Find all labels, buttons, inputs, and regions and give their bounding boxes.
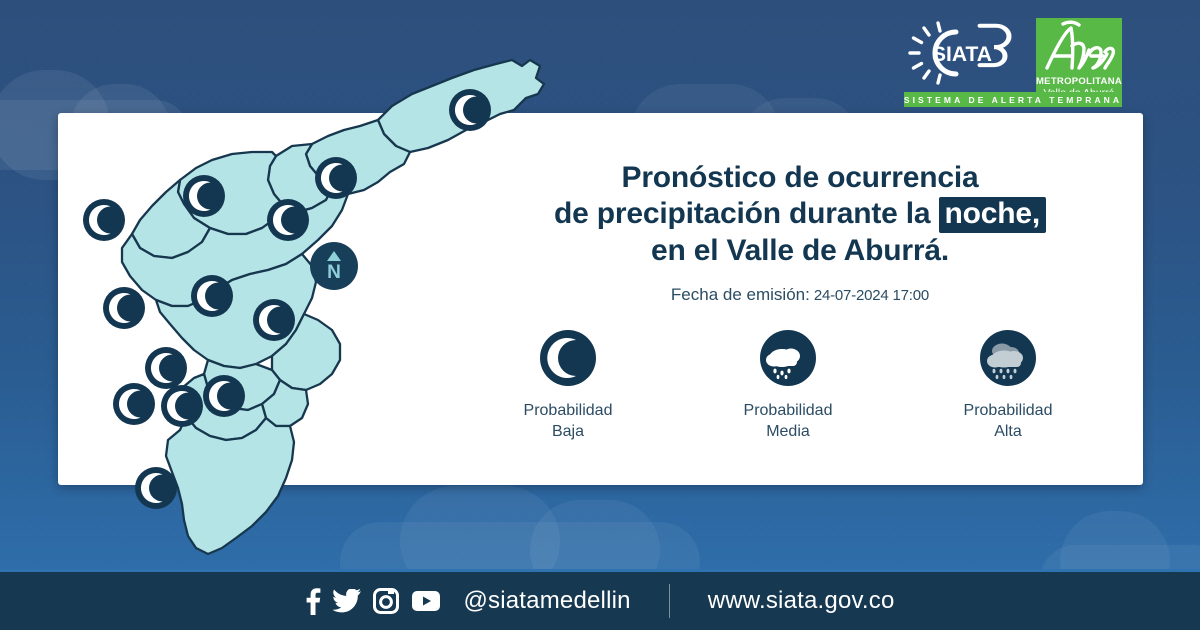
- emission-date-label: Fecha de emisión:: [671, 285, 810, 304]
- map-marker[interactable]: [135, 467, 177, 509]
- map-marker[interactable]: [83, 199, 125, 241]
- map-marker[interactable]: [113, 383, 155, 425]
- area-script-icon: [1039, 20, 1119, 76]
- legend-label-alta-line1: Probabilidad: [918, 400, 1098, 421]
- facebook-icon[interactable]: [305, 587, 321, 615]
- map-marker[interactable]: [203, 375, 245, 417]
- title-line-1: Pronóstico de ocurrencia: [470, 160, 1130, 196]
- map-marker[interactable]: [103, 287, 145, 329]
- youtube-icon[interactable]: [411, 590, 441, 612]
- tagline-text: SISTEMA DE ALERTA TEMPRANA: [904, 95, 1122, 105]
- social-icons: [305, 587, 441, 615]
- title-line-2-text: de precipitación durante la: [554, 197, 939, 230]
- legend-label-baja-line1: Probabilidad: [478, 400, 658, 421]
- probability-legend: Probabilidad Baja: [478, 330, 1098, 442]
- siata-logo: SIATA: [904, 18, 1022, 88]
- legend-item-alta[interactable]: Probabilidad Alta: [918, 330, 1098, 442]
- map-regions: [122, 60, 544, 554]
- map-marker[interactable]: [183, 175, 225, 217]
- map-marker[interactable]: [191, 275, 233, 317]
- tagline-bar: SISTEMA DE ALERTA TEMPRANA: [904, 92, 1122, 107]
- compass-north-icon: N: [310, 242, 358, 290]
- map-marker[interactable]: [253, 299, 295, 341]
- footer-divider: [669, 584, 670, 618]
- map-marker[interactable]: [267, 199, 309, 241]
- legend-label-alta-line2: Alta: [918, 421, 1098, 442]
- title-line-2: de precipitación durante la noche,: [470, 196, 1130, 233]
- cloud-moon-rain-icon: [760, 330, 816, 386]
- map-marker[interactable]: [145, 347, 187, 389]
- legend-label-baja: Probabilidad Baja: [478, 400, 658, 442]
- map-marker[interactable]: [449, 89, 491, 131]
- legend-item-media[interactable]: Probabilidad Media: [698, 330, 878, 442]
- legend-label-media-line1: Probabilidad: [698, 400, 878, 421]
- twitter-icon[interactable]: [333, 589, 361, 613]
- cloud-heavy-rain-icon: [980, 330, 1036, 386]
- area-logo-line1: METROPOLITANA: [1036, 76, 1122, 87]
- moon-icon: [540, 330, 596, 386]
- siata-logo-text: SIATA: [932, 43, 992, 66]
- instagram-icon[interactable]: [373, 588, 399, 614]
- map-marker[interactable]: [161, 385, 203, 427]
- footer: @siatamedellin www.siata.gov.co: [0, 572, 1200, 630]
- title-highlight: noche,: [939, 197, 1046, 233]
- emission-date-row: Fecha de emisión:24-07-2024 17:00: [470, 285, 1130, 305]
- valle-de-aburra-map: N: [60, 48, 560, 568]
- compass-label: N: [327, 262, 341, 283]
- page-title: Pronóstico de ocurrencia de precipitació…: [470, 160, 1130, 269]
- map-svg: N: [60, 48, 560, 568]
- map-marker[interactable]: [315, 157, 357, 199]
- title-line-3: en el Valle de Aburrá.: [470, 233, 1130, 269]
- emission-date-value: 24-07-2024 17:00: [814, 287, 929, 304]
- legend-label-media-line2: Media: [698, 421, 878, 442]
- website-url[interactable]: www.siata.gov.co: [708, 587, 895, 615]
- legend-label-alta: Probabilidad Alta: [918, 400, 1098, 442]
- legend-label-baja-line2: Baja: [478, 421, 658, 442]
- infographic-root: SIATA METROPOLITANA Valle de Aburrá SIST…: [0, 0, 1200, 630]
- social-handle[interactable]: @siatamedellin: [463, 587, 630, 615]
- title-panel: Pronóstico de ocurrencia de precipitació…: [470, 160, 1130, 305]
- legend-item-baja[interactable]: Probabilidad Baja: [478, 330, 658, 442]
- legend-label-media: Probabilidad Media: [698, 400, 878, 442]
